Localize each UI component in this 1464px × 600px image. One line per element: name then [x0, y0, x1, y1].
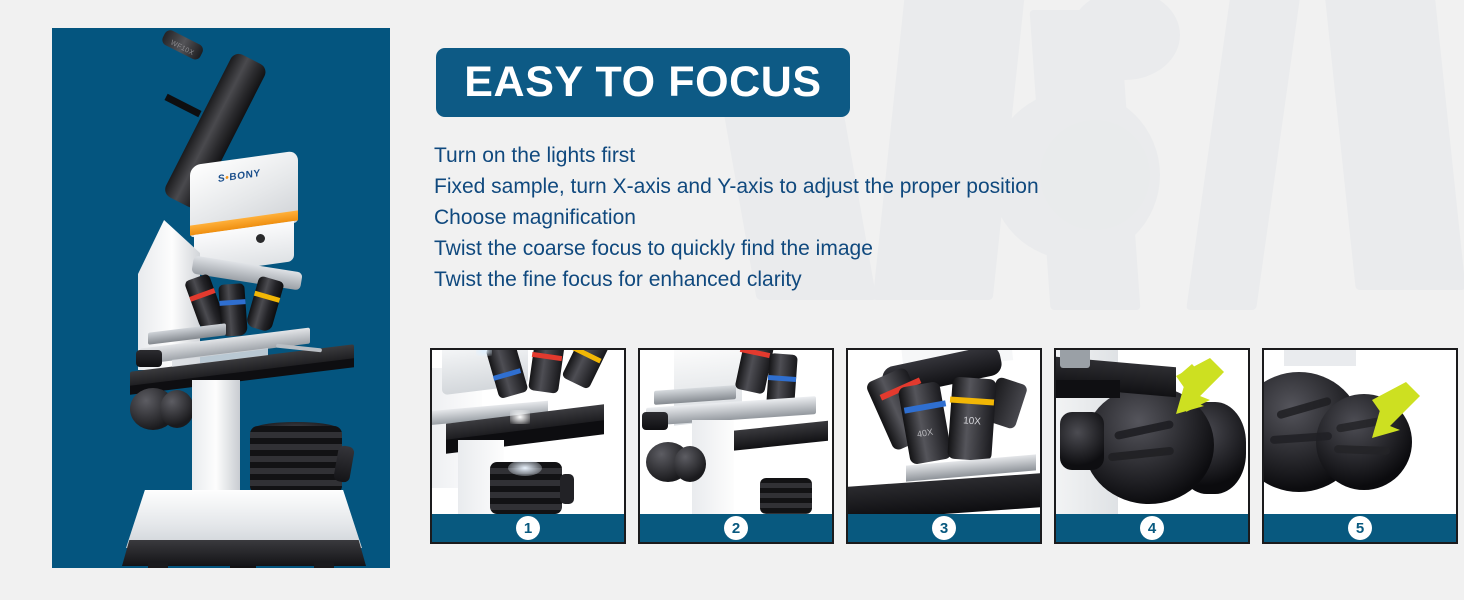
condenser-assembly — [760, 478, 812, 514]
step-number-badge: 1 — [516, 516, 540, 540]
step-number-badge: 2 — [724, 516, 748, 540]
fine-focus-knob — [674, 446, 706, 482]
specimen-stage — [848, 473, 1040, 514]
page-title-banner: EASY TO FOCUS — [436, 48, 850, 117]
step-thumbnail-1: 1 — [430, 348, 626, 544]
microscope-column — [192, 380, 240, 500]
instruction-line-4: Twist the coarse focus to quickly find t… — [434, 233, 1234, 264]
objective-ring-blue — [219, 299, 245, 306]
step-thumbnail-4: 4 — [1054, 348, 1250, 544]
condenser-lever — [560, 474, 574, 504]
condenser-assembly — [250, 426, 342, 494]
light-spot-upper — [476, 350, 492, 356]
step-1-photo — [432, 350, 624, 514]
base-foot-center — [230, 566, 256, 568]
objective-ring-yellow — [254, 291, 280, 303]
product-image-panel: WF10X S•BONY — [52, 28, 390, 568]
stage-clip — [1060, 350, 1090, 368]
column-wall — [1284, 350, 1356, 366]
eyepiece-ring — [164, 94, 201, 117]
step-thumbnail-3: 40X 10X 3 — [846, 348, 1042, 544]
step-number-badge: 3 — [932, 516, 956, 540]
infographic-canvas: WF10X S•BONY — [0, 0, 1464, 600]
instruction-line-1: Turn on the lights first — [434, 140, 1234, 171]
yellow-arrow-icon — [1360, 380, 1422, 442]
page-title: EASY TO FOCUS — [464, 61, 821, 104]
step-1-footer: 1 — [432, 514, 624, 542]
stage-bracket — [1056, 380, 1120, 398]
head-port-dot — [256, 234, 265, 243]
step-2-photo — [640, 350, 832, 514]
microscope-base — [126, 490, 362, 548]
step-3-photo: 40X 10X — [848, 350, 1040, 514]
base-foot-right — [314, 562, 334, 568]
instruction-line-2: Fixed sample, turn X-axis and Y-axis to … — [434, 171, 1234, 202]
step-2-footer: 2 — [640, 514, 832, 542]
step-number-badge: 4 — [1140, 516, 1164, 540]
objective-lens-40x — [898, 381, 953, 465]
step-5-footer: 5 — [1264, 514, 1456, 542]
step-number-badge: 5 — [1348, 516, 1372, 540]
instruction-list: Turn on the lights first Fixed sample, t… — [434, 140, 1234, 295]
x-axis-knob — [642, 412, 668, 430]
specimen-stage — [728, 421, 828, 452]
base-foot-left — [148, 562, 168, 568]
step-4-footer: 4 — [1056, 514, 1248, 542]
x-axis-knob — [136, 350, 162, 367]
knob-inner-collar — [1060, 412, 1104, 470]
yellow-arrow-icon — [1164, 356, 1226, 418]
instruction-line-3: Choose magnification — [434, 202, 1234, 233]
illuminator-glow — [508, 460, 542, 476]
step-thumbnail-2: 2 — [638, 348, 834, 544]
step-thumbnail-strip: 1 2 — [430, 348, 1458, 544]
microscope-illustration: WF10X S•BONY — [52, 28, 390, 568]
step-4-photo — [1056, 350, 1248, 514]
step-thumbnail-5: 5 — [1262, 348, 1458, 544]
fine-focus-knob — [160, 390, 194, 428]
objective-lens-yellow — [245, 275, 284, 332]
step-3-footer: 3 — [848, 514, 1040, 542]
objective-ring-red — [189, 288, 215, 302]
step-5-photo — [1264, 350, 1456, 514]
stage-light-glow — [510, 410, 530, 424]
instruction-line-5: Twist the fine focus for enhanced clarit… — [434, 264, 1234, 295]
